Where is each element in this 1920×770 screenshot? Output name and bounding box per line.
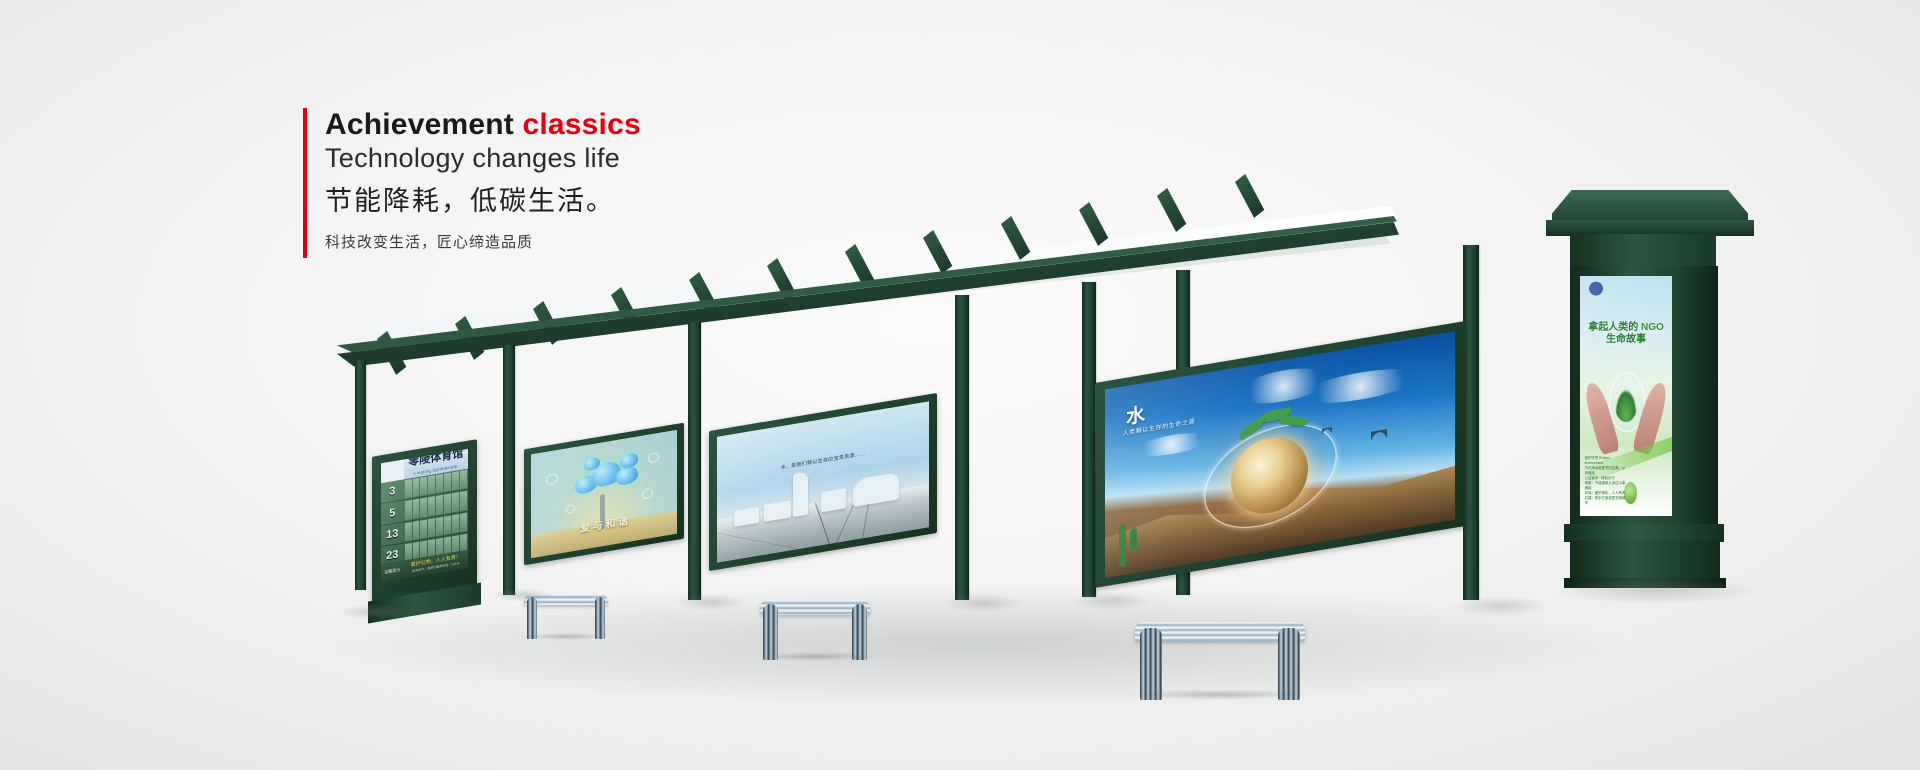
support-post-5	[1082, 282, 1096, 597]
support-post-3	[688, 322, 701, 600]
bench-3	[1135, 622, 1305, 694]
bird-silhouette	[1371, 429, 1387, 440]
bench-leg-left	[1140, 628, 1162, 700]
lightbox-totem[interactable]: 拿起人类的 NGO 生命故事 保护环境 Protect environment	[1580, 276, 1672, 516]
poster-headline: 拿起人类的 NGO 生命故事	[1584, 322, 1669, 346]
bench-shadow	[756, 652, 875, 661]
post-shadow	[944, 594, 1022, 612]
route-number: 5	[381, 501, 404, 525]
lightbox-route-board[interactable]: 零陵体育馆 Lingling Gymnasium 3 5 13	[372, 439, 477, 605]
route-board-screen: 零陵体育馆 Lingling Gymnasium 3 5 13	[381, 449, 468, 584]
footer-label: 温馨提示	[381, 567, 404, 577]
support-post-2	[503, 345, 515, 595]
poster-badge: NGO	[1641, 322, 1664, 333]
decor-bubble	[648, 452, 659, 464]
bench-2	[760, 600, 870, 656]
route-list: 3 5 13 23	[381, 469, 468, 564]
animal-giraffe	[793, 472, 808, 517]
decor-bubble	[546, 473, 558, 486]
body-line: 低碳：节能减排从身边小事做起	[1585, 481, 1627, 491]
post-shadow	[340, 604, 410, 620]
heart-shape	[619, 451, 638, 469]
bench-leg-right	[1278, 628, 1300, 700]
lightbox-heart-tree[interactable]: 爱 与 和 谐	[524, 423, 684, 566]
poster-caption: 水，是我们赖以生存的宝贵资源……	[755, 445, 891, 475]
body-line: 节约用水就是节约生命，从我做起	[1585, 466, 1627, 476]
bus-shelter: 零陵体育馆 Lingling Gymnasium 3 5 13	[0, 0, 1920, 770]
lightbox-animals[interactable]: 水，是我们赖以生存的宝贵资源……	[709, 393, 937, 571]
post-shadow	[492, 588, 552, 602]
post-shadow	[1072, 592, 1150, 610]
route-number: 3	[381, 480, 404, 504]
scene-canvas: Achievement classics Technology changes …	[0, 0, 1920, 770]
decor-bubble	[566, 504, 575, 515]
decor-bubble	[642, 488, 653, 500]
bench-shadow	[521, 633, 612, 640]
totem-neck	[1570, 234, 1716, 268]
body-line: 共建：携手打造宜居文明城市	[1585, 496, 1627, 506]
org-logo-icon	[1586, 281, 1606, 300]
body-line: 保护环境 Protect environment	[1585, 456, 1627, 466]
bench-leg-left	[763, 604, 777, 660]
support-post-1	[355, 360, 366, 590]
cactus	[1119, 524, 1126, 567]
poster-screen: 拿起人类的 NGO 生命故事 保护环境 Protect environment	[1580, 276, 1672, 516]
poster-totem-art: 拿起人类的 NGO 生命故事 保护环境 Protect environment	[1580, 276, 1672, 516]
support-post-6	[1463, 245, 1479, 600]
poster-body-text: 保护环境 Protect environment 节约用水就是节约生命，从我做起…	[1585, 456, 1627, 506]
totem-column: 拿起人类的 NGO 生命故事 保护环境 Protect environment	[1570, 190, 1730, 580]
totem-base	[1570, 540, 1720, 582]
bird-silhouette	[1322, 427, 1332, 434]
bench-leg-right	[852, 604, 866, 660]
post-shadow	[1452, 596, 1548, 616]
totem-shadow	[1556, 578, 1756, 604]
cactus	[1130, 528, 1137, 552]
route-number: 13	[381, 522, 404, 546]
totem-side-wing	[1674, 266, 1718, 528]
post-shadow	[676, 594, 746, 610]
support-post-4	[955, 295, 969, 600]
